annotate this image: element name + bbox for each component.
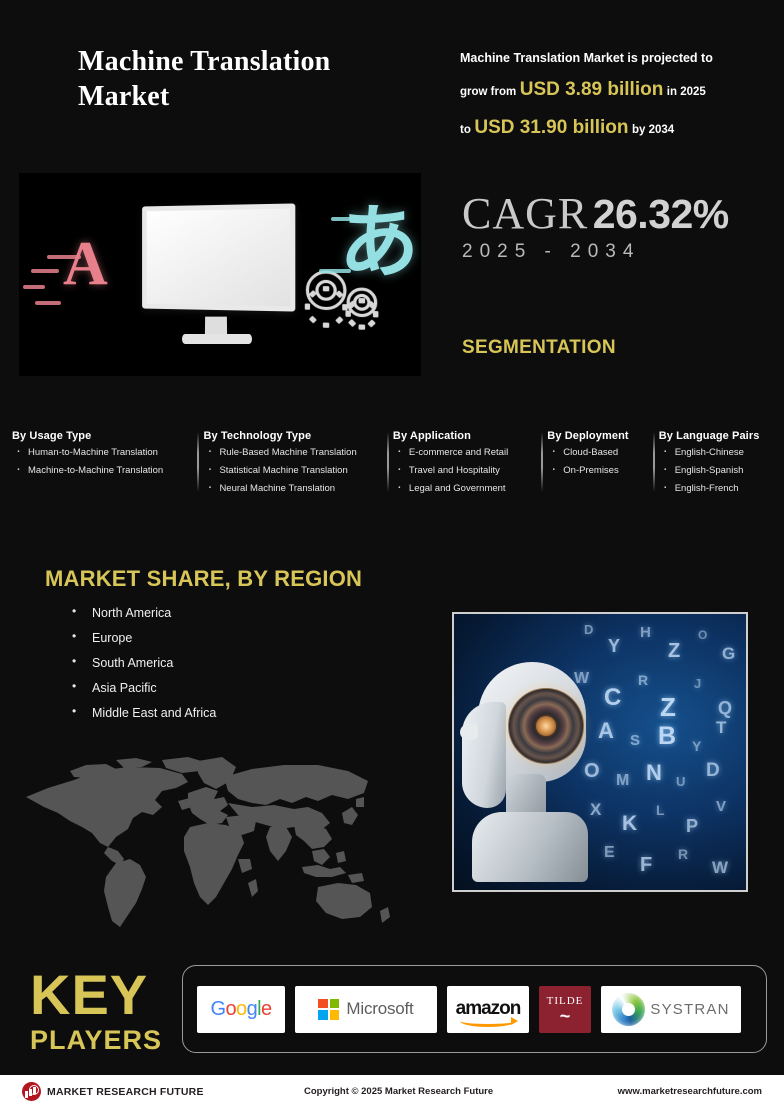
robot-nose (459, 723, 479, 741)
list-item: Cloud-Based (547, 448, 650, 458)
systran-logo-label: SYSTRAN (650, 1001, 729, 1018)
market-research-future-logo-icon (22, 1082, 41, 1101)
tilde-swoosh-icon: ~ (560, 1006, 571, 1026)
list-item: South America (72, 656, 216, 670)
amazon-smile-icon (460, 1015, 516, 1027)
list-item: Europe (72, 631, 216, 645)
footer-brand[interactable]: MARKET RESEARCH FUTURE (22, 1082, 204, 1101)
list-item: English-Chinese (659, 448, 768, 458)
speed-line-left-2 (23, 285, 45, 289)
column-divider (653, 432, 655, 492)
amazon-logo[interactable]: amazon (447, 986, 529, 1033)
segmentation-column-title: By Technology Type (203, 430, 384, 442)
segmentation-column-technology-type: By Technology Type Rule-Based Machine Tr… (203, 430, 392, 510)
segmentation-grid: By Usage Type Human-to-Machine Translati… (12, 430, 776, 510)
segmentation-column-list: English-Chinese English-Spanish English-… (659, 448, 768, 494)
speed-line-left-3 (35, 301, 61, 305)
footer-brand-label: MARKET RESEARCH FUTURE (47, 1086, 204, 1098)
header: Machine Translation Market Machine Trans… (0, 0, 784, 160)
projection-statement: Machine Translation Market is projected … (460, 46, 760, 147)
list-item: Asia Pacific (72, 681, 216, 695)
cagr-value: 26.32% (593, 191, 729, 237)
segmentation-column-language-pairs: By Language Pairs English-Chinese Englis… (659, 430, 776, 510)
robot-eye-lens (508, 688, 584, 764)
market-share-region-list: North America Europe South America Asia … (72, 606, 216, 731)
column-divider (387, 432, 389, 492)
source-letter-a: A (63, 229, 108, 300)
value-2025: USD 3.89 billion (520, 79, 664, 100)
key-players-logo-box: Google Microsoft amazon TILDE ~ SYSTRAN (182, 965, 767, 1053)
list-item: On-Premises (547, 466, 650, 476)
list-item: Human-to-Machine Translation (12, 448, 195, 458)
list-item: E-commerce and Retail (393, 448, 539, 458)
segmentation-column-list: Rule-Based Machine Translation Statistic… (203, 448, 384, 494)
column-divider (541, 432, 543, 492)
speed-line-left-1 (31, 269, 59, 273)
column-divider (197, 432, 199, 492)
segmentation-column-title: By Application (393, 430, 539, 442)
google-logo[interactable]: Google (197, 986, 285, 1033)
microsoft-logo[interactable]: Microsoft (295, 986, 437, 1033)
segmentation-column-list: E-commerce and Retail Travel and Hospita… (393, 448, 539, 494)
ai-robot-head-with-letters: D Y H Z O G W C R Z J Q A S B Y T O M N … (452, 612, 748, 892)
machine-translation-monitor-illustration: A あ (19, 173, 421, 376)
segmentation-column-title: By Usage Type (12, 430, 195, 442)
segmentation-column-title: By Language Pairs (659, 430, 768, 442)
segmentation-column-list: Human-to-Machine Translation Machine-to-… (12, 448, 195, 476)
projection-line-1: Machine Translation Market is projected … (460, 51, 713, 65)
cagr-years: 2025 - 2034 (462, 241, 729, 263)
tilde-logo[interactable]: TILDE ~ (539, 986, 591, 1033)
list-item: Travel and Hospitality (393, 466, 539, 476)
world-map-silhouette (12, 755, 422, 930)
footer-copyright: Copyright © 2025 Market Research Future (304, 1086, 493, 1097)
footer: MARKET RESEARCH FUTURE Copyright © 2025 … (0, 1075, 784, 1108)
robot-face-profile (462, 702, 506, 808)
cagr-block: CAGR 26.32% 2025 - 2034 (462, 188, 729, 263)
list-item: Legal and Government (393, 484, 539, 494)
key-players-line-2: PLAYERS (30, 1025, 162, 1056)
in-2025-label: in 2025 (667, 86, 706, 98)
list-item: Rule-Based Machine Translation (203, 448, 384, 458)
footer-url[interactable]: www.marketresearchfuture.com (618, 1086, 762, 1097)
microsoft-logo-label: Microsoft (346, 999, 413, 1019)
cagr-label: CAGR (462, 189, 588, 238)
robot-head (462, 662, 590, 842)
list-item: English-French (659, 484, 768, 494)
target-letter-japanese: あ (339, 203, 419, 283)
list-item: Middle East and Africa (72, 706, 216, 720)
list-item: English-Spanish (659, 466, 768, 476)
monitor-screen (142, 203, 295, 311)
gear-icon-small (347, 287, 378, 317)
market-share-title: MARKET SHARE, BY REGION (45, 566, 362, 592)
segmentation-column-deployment: By Deployment Cloud-Based On-Premises (547, 430, 658, 510)
list-item: North America (72, 606, 216, 620)
segmentation-column-application: By Application E-commerce and Retail Tra… (393, 430, 547, 510)
list-item: Machine-to-Machine Translation (12, 466, 195, 476)
to-label: to (460, 124, 471, 136)
list-item: Statistical Machine Translation (203, 466, 384, 476)
microsoft-squares-icon (318, 999, 339, 1020)
systran-logo[interactable]: SYSTRAN (601, 986, 741, 1033)
monitor-stand-base (182, 334, 252, 344)
segmentation-heading: SEGMENTATION (462, 337, 616, 359)
systran-swirl-icon (612, 993, 645, 1026)
by-2034-label: by 2034 (632, 124, 674, 136)
robot-shoulder (472, 812, 588, 882)
grow-from-label: grow from (460, 86, 516, 98)
page-title: Machine Translation Market (78, 44, 408, 114)
value-2034: USD 31.90 billion (474, 117, 628, 138)
segmentation-column-title: By Deployment (547, 430, 650, 442)
segmentation-column-list: Cloud-Based On-Premises (547, 448, 650, 476)
segmentation-column-usage-type: By Usage Type Human-to-Machine Translati… (12, 430, 203, 510)
list-item: Neural Machine Translation (203, 484, 384, 494)
key-players-line-1: KEY (30, 968, 148, 1021)
